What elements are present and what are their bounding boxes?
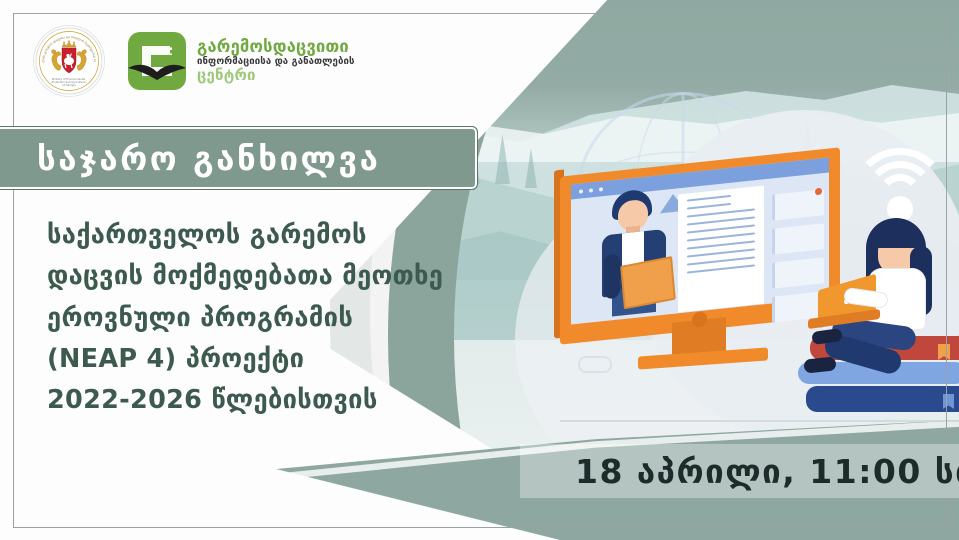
eiec-logo: გარემოსდაცვითი ინფორმაციისა და განათლები… xyxy=(126,30,355,92)
arm xyxy=(604,254,620,300)
eiec-logo-mark-icon xyxy=(126,30,188,92)
book-navy xyxy=(806,386,959,412)
headline-block: საქართველოს გარემოს დაცვის მოქმედებათა მ… xyxy=(47,215,477,421)
woman-with-laptop xyxy=(838,218,959,378)
poster-canvas: საქართველოს გარემოს დაცვისა და სოფლის მე… xyxy=(0,0,959,540)
document-folder-icon xyxy=(620,256,676,309)
document-preview xyxy=(678,185,764,312)
event-date-time: 18 აპრილი, 11:00 სთ xyxy=(575,452,959,491)
eiec-logo-text: გარემოსდაცვითი ინფორმაციისა და განათლები… xyxy=(197,39,355,84)
desktop-monitor xyxy=(560,162,850,372)
headline-line-5: 2022-2026 წლებისთვის xyxy=(47,380,477,421)
sidebar-card xyxy=(772,223,824,254)
eiec-logo-line3: ცენტრი xyxy=(197,68,355,83)
georgia-coat-of-arms-icon: საქართველოს გარემოს დაცვისა და სოფლის მე… xyxy=(35,27,103,95)
headline-line-3: ეროვნული პროგრამის xyxy=(47,298,477,339)
ground-shadow-line xyxy=(560,420,959,422)
header-logos: საქართველოს გარემოს დაცვისა და სოფლის მე… xyxy=(34,26,355,96)
eiec-logo-line1: გარემოსდაცვითი xyxy=(197,39,355,56)
headline-line-1: საქართველოს გარემოს xyxy=(47,215,477,256)
wifi-icon xyxy=(852,148,948,208)
public-discussion-banner: საჯარო განხილვა xyxy=(0,126,478,190)
bookmark-icon xyxy=(943,394,954,409)
ministry-emblem: საქართველოს გარემოს დაცვისა და სოფლის მე… xyxy=(34,26,104,96)
banner-label: საჯარო განხილვა xyxy=(37,139,380,178)
headline-line-4: (NEAP 4) პროექტი xyxy=(47,339,477,380)
headline-line-2: დაცვის მოქმედებათა მეოთხე xyxy=(47,256,477,297)
online-meeting-illustration xyxy=(560,140,959,430)
